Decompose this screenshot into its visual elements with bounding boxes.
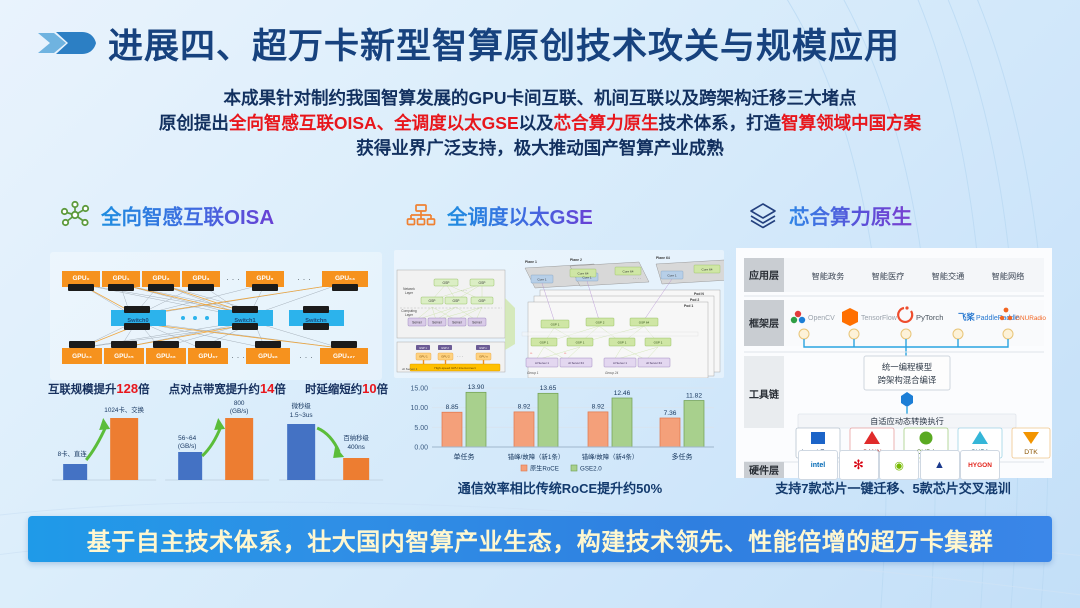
gse-bar-chart: 15.00 10.00 5.00 0.00 8.85 13.90 单任务 8.9… <box>398 378 720 474</box>
svg-text:OpenCV: OpenCV <box>808 315 835 322</box>
gse-architecture-diagram: GSPGSP GSPGSPGSP ServerServerServerServe… <box>394 250 724 378</box>
svg-text:Server: Server <box>412 321 423 325</box>
layers-stack-icon <box>748 200 778 230</box>
minichart-0: 8卡、直连 1024卡、交换 <box>48 400 161 486</box>
svg-text:8.85: 8.85 <box>446 404 459 411</box>
section-title-oisa: 全向智感互联OISA <box>101 200 274 230</box>
subtitle-l2-hl1: 全向智感互联OISA、全调度以太GSE <box>229 113 519 133</box>
subtitle-l2-pre: 原创提出 <box>159 113 229 133</box>
svg-text:· · · ·: · · · · <box>633 276 642 281</box>
svg-text:Core 64: Core 64 <box>622 270 633 274</box>
svg-text:AI Server 64: AI Server 64 <box>646 361 662 365</box>
svg-text:GNURadio: GNURadio <box>1015 315 1046 322</box>
svg-text:Core 64: Core 64 <box>701 268 712 272</box>
svg-text:Core 1: Core 1 <box>667 274 677 278</box>
svg-text:Server: Server <box>432 321 443 325</box>
svg-text:Pod N: Pod N <box>694 292 704 296</box>
svg-text:GPU₆₅: GPU₆₅ <box>114 353 134 360</box>
metric-0-pre: 互联规模提升 <box>48 384 116 396</box>
chip-caption: 支持7款芯片一键迁移、5款芯片交叉混训 <box>730 478 1056 497</box>
subtitle-block: 本成果针对制约我国智算发展的GPU卡间互联、机间互联以及跨架构迁移三大堵点 原创… <box>0 86 1080 161</box>
svg-text:GPU₈: GPU₈ <box>256 275 273 282</box>
svg-text:· · ·: · · · <box>226 274 240 284</box>
svg-text:GPU n: GPU n <box>479 355 488 359</box>
bottom-banner: 基于自主技术体系，壮大国内智算产业生态，构建技术领先、性能倍增的超万卡集群 <box>28 516 1052 562</box>
svg-text:Plane 1: Plane 1 <box>525 260 537 264</box>
minichart-1-right-sub: (GB/s) <box>230 408 248 415</box>
svg-text:GPU 1: GPU 1 <box>419 355 428 359</box>
svg-text:Pod 1: Pod 1 <box>684 304 693 308</box>
svg-text:Pod 2: Pod 2 <box>690 298 699 302</box>
svg-text:智能交通: 智能交通 <box>932 271 965 281</box>
svg-text:GPU₆₄: GPU₆₄ <box>72 353 92 360</box>
chip-architecture-diagram: 应用层 智能政务智能医疗 智能交通智能网络 框架层 OpenCV TensorF… <box>736 248 1052 478</box>
svg-text:Core 1: Core 1 <box>537 278 547 282</box>
subtitle-l2-mid: 以及 <box>519 113 554 133</box>
metric-0: 互联规模提升128倍 <box>48 381 149 397</box>
svg-text:AI Server 1: AI Server 1 <box>401 367 418 371</box>
minichart-2-right-sub: 400ns <box>347 444 364 451</box>
subtitle-line-1: 本成果针对制约我国智算发展的GPU卡间互联、机间互联以及跨架构迁移三大堵点 <box>0 86 1080 111</box>
svg-text:Group 24: Group 24 <box>605 371 619 375</box>
svg-text:Server: Server <box>472 321 483 325</box>
svg-text:PaddlePaddle: PaddlePaddle <box>976 315 1020 322</box>
svg-text:智能政务: 智能政务 <box>812 271 845 281</box>
legend-gse: GSE2.0 <box>580 465 602 472</box>
svg-text:13.65: 13.65 <box>540 385 557 392</box>
gse-caption: 通信效率相比传统RoCE提升约50% <box>392 478 728 497</box>
subtitle-l2-hl3: 智算领域中国方案 <box>781 113 921 133</box>
svg-text:工具链: 工具链 <box>749 388 780 401</box>
subtitle-l2-hl2: 芯合算力原生 <box>554 113 659 133</box>
legend-roce: 原生RoCE <box>530 464 559 472</box>
svg-text:· · ·: · · · <box>461 289 466 293</box>
chevron-right-icon <box>38 30 100 56</box>
svg-text:自适应动态转换执行: 自适应动态转换执行 <box>870 416 944 426</box>
svg-text:GPU₁: GPU₁ <box>113 275 130 282</box>
svg-text:GPU₆₃: GPU₆₃ <box>335 275 355 282</box>
subtitle-line-3: 获得业界广泛支持，极大推动国产智算产业成熟 <box>0 136 1080 161</box>
svg-text:Layer: Layer <box>405 313 414 317</box>
svg-text:· · ·: · · · <box>297 274 311 284</box>
subtitle-line-2: 原创提出全向智感互联OISA、全调度以太GSE以及芯合算力原生技术体系，打造智算… <box>0 111 1080 136</box>
svg-text:GSP: GSP <box>429 299 437 303</box>
metric-2: 时延缩短约10倍 <box>305 381 388 397</box>
svg-text:· · ·: · · · <box>231 352 245 362</box>
oisa-metrics: 互联规模提升128倍 点对点带宽提升约14倍 时延缩短约10倍 <box>46 381 390 397</box>
svg-text:GSP 64: GSP 64 <box>639 321 650 325</box>
svg-text:跨架构混合编译: 跨架构混合编译 <box>878 375 937 385</box>
minichart-2-left-sub: 1.5~3us <box>289 412 312 419</box>
svg-text:11.82: 11.82 <box>686 393 702 400</box>
slide-header: 进展四、超万卡新型智算原创技术攻关与规模应用 <box>0 8 1080 74</box>
svg-text:Server: Server <box>452 321 463 325</box>
vendor-nvidia: ◉ <box>879 450 919 480</box>
minichart-1-left-sub: (GB/s) <box>178 443 196 450</box>
hardware-vendor-row: intel ✻ ◉ ▲ HYGON <box>742 448 1048 482</box>
svg-text:GSP 1: GSP 1 <box>551 323 560 327</box>
vendor-moore-threads: ▲ <box>920 450 960 480</box>
minichart-2-left-label: 微秒级 <box>291 401 311 410</box>
metric-2-pre: 时延缩短约 <box>305 384 362 396</box>
svg-text:AI Server 1: AI Server 1 <box>535 361 549 365</box>
metric-1-value: 14 <box>260 381 274 396</box>
svg-text:GPU₁₂₇: GPU₁₂₇ <box>333 353 355 360</box>
svg-text:Plane 2: Plane 2 <box>570 258 582 262</box>
svg-text:Switch0: Switch0 <box>127 318 148 324</box>
metric-1: 点对点带宽提升约14倍 <box>169 381 286 397</box>
subtitle-l2-post: 技术体系，打造 <box>659 113 782 133</box>
svg-text:错峰/故障（新1条）: 错峰/故障（新1条） <box>508 452 564 461</box>
svg-text:· · ·: · · · <box>457 355 463 359</box>
svg-text:8.92: 8.92 <box>518 404 531 411</box>
svg-text:应用层: 应用层 <box>749 269 779 282</box>
minichart-2-right-label: 百纳秒级 <box>343 433 369 442</box>
ytick-5: 5.00 <box>414 425 428 432</box>
banner-text: 基于自主技术体系，壮大国内智算产业生态，构建技术领先、性能倍增的超万卡集群 <box>87 522 994 557</box>
section-title-gse: 全调度以太GSE <box>447 200 593 230</box>
svg-text:GPU₂: GPU₂ <box>153 275 170 282</box>
svg-text:High-speed GPU Interconnect: High-speed GPU Interconnect <box>434 366 475 370</box>
vendor-intel: intel <box>798 450 838 480</box>
svg-text:GPU₉₆: GPU₉₆ <box>258 353 278 360</box>
svg-text:AI Server 64: AI Server 64 <box>568 361 584 365</box>
page-title: 进展四、超万卡新型智算原创技术攻关与规模应用 <box>108 18 900 69</box>
svg-text:智能医疗: 智能医疗 <box>872 271 905 281</box>
svg-text:13.90: 13.90 <box>468 384 485 391</box>
minichart-1-left-label: 56~64 <box>179 435 197 442</box>
svg-text:GPU₃: GPU₃ <box>192 275 209 282</box>
svg-text:GSP 1: GSP 1 <box>618 341 627 345</box>
minichart-0-left-label: 8卡、直连 <box>58 449 88 458</box>
svg-text:GSP: GSP <box>479 299 487 303</box>
metric-1-pre: 点对点带宽提升约 <box>169 384 260 396</box>
svg-text:GPU 2: GPU 2 <box>441 355 450 359</box>
org-tree-icon <box>406 200 436 230</box>
network-nodes-icon <box>60 200 90 230</box>
svg-text:GSP 1: GSP 1 <box>540 341 549 345</box>
svg-text:Core 64: Core 64 <box>577 272 588 276</box>
svg-text:GPU₆₇: GPU₆₇ <box>198 353 218 360</box>
minichart-2: 微秒级 1.5~3us 百纳秒级 400ns <box>275 400 388 486</box>
svg-text:框架层: 框架层 <box>749 317 779 330</box>
svg-text:GSP 1: GSP 1 <box>576 341 585 345</box>
svg-text:PyTorch: PyTorch <box>916 313 943 322</box>
metric-0-value: 128 <box>116 381 138 396</box>
metric-2-post: 倍 <box>377 384 388 396</box>
section-header-chip: 芯合算力原生 <box>734 192 1052 238</box>
svg-text:8.92: 8.92 <box>592 404 605 411</box>
section-header-gse: 全调度以太GSE <box>392 192 728 238</box>
section-header-oisa: 全向智感互联OISA <box>46 192 386 238</box>
oisa-network-diagram: GPU₀GPU₁GPU₂ GPU₃GPU₈GPU₆₃ Switch0Switch… <box>50 252 382 380</box>
svg-text:GSP 2: GSP 2 <box>596 321 605 325</box>
svg-text:Plane 64: Plane 64 <box>656 256 670 260</box>
svg-text:单任务: 单任务 <box>454 452 475 461</box>
vendor-hygon: HYGON <box>960 450 1000 480</box>
svg-text:GSP 1: GSP 1 <box>419 346 427 350</box>
minichart-0-right-label: 1024卡、交换 <box>104 405 144 414</box>
svg-text:12.46: 12.46 <box>614 390 631 397</box>
svg-text:GPU₆₆: GPU₆₆ <box>156 353 176 360</box>
svg-text:统一编程模型: 统一编程模型 <box>882 362 932 372</box>
svg-text:多任务: 多任务 <box>672 452 693 461</box>
svg-text:Layer: Layer <box>405 291 414 295</box>
svg-text:GSP 2: GSP 2 <box>441 346 449 350</box>
oisa-minicharts: 8卡、直连 1024卡、交换 56~64 (GB/s) 800 (GB/s) 微… <box>48 400 388 486</box>
svg-text:Switch1: Switch1 <box>234 318 255 324</box>
metric-1-post: 倍 <box>274 384 285 396</box>
svg-text:GSP: GSP <box>453 299 461 303</box>
svg-text:Core 1: Core 1 <box>582 276 592 280</box>
ytick-0: 0.00 <box>414 445 428 452</box>
svg-text:7.36: 7.36 <box>664 410 677 417</box>
svg-text:Switchn: Switchn <box>305 318 327 324</box>
svg-text:飞桨: 飞桨 <box>958 312 975 322</box>
metric-2-value: 10 <box>362 381 376 396</box>
svg-text:GPU₀: GPU₀ <box>72 275 89 282</box>
section-title-chip: 芯合算力原生 <box>789 200 912 230</box>
ytick-15: 15.00 <box>410 386 428 393</box>
svg-text:GSP 1: GSP 1 <box>654 341 663 345</box>
ytick-10: 10.00 <box>410 405 428 412</box>
vendor-huawei: ✻ <box>839 450 879 480</box>
svg-text:TensorFlow: TensorFlow <box>861 315 898 322</box>
svg-text:智能网络: 智能网络 <box>992 271 1025 281</box>
svg-text:GSP n: GSP n <box>479 346 487 350</box>
svg-text:Group 1: Group 1 <box>527 371 539 375</box>
svg-text:GSP: GSP <box>443 281 451 285</box>
svg-text:错峰/故障（新4条）: 错峰/故障（新4条） <box>582 452 638 461</box>
metric-0-post: 倍 <box>138 384 149 396</box>
svg-text:· · ·: · · · <box>299 352 313 362</box>
minichart-1: 56~64 (GB/s) 800 (GB/s) <box>161 400 274 486</box>
svg-text:AI Server 1: AI Server 1 <box>613 361 627 365</box>
minichart-1-right-label: 800 <box>234 400 245 407</box>
svg-text:GSP: GSP <box>479 281 487 285</box>
